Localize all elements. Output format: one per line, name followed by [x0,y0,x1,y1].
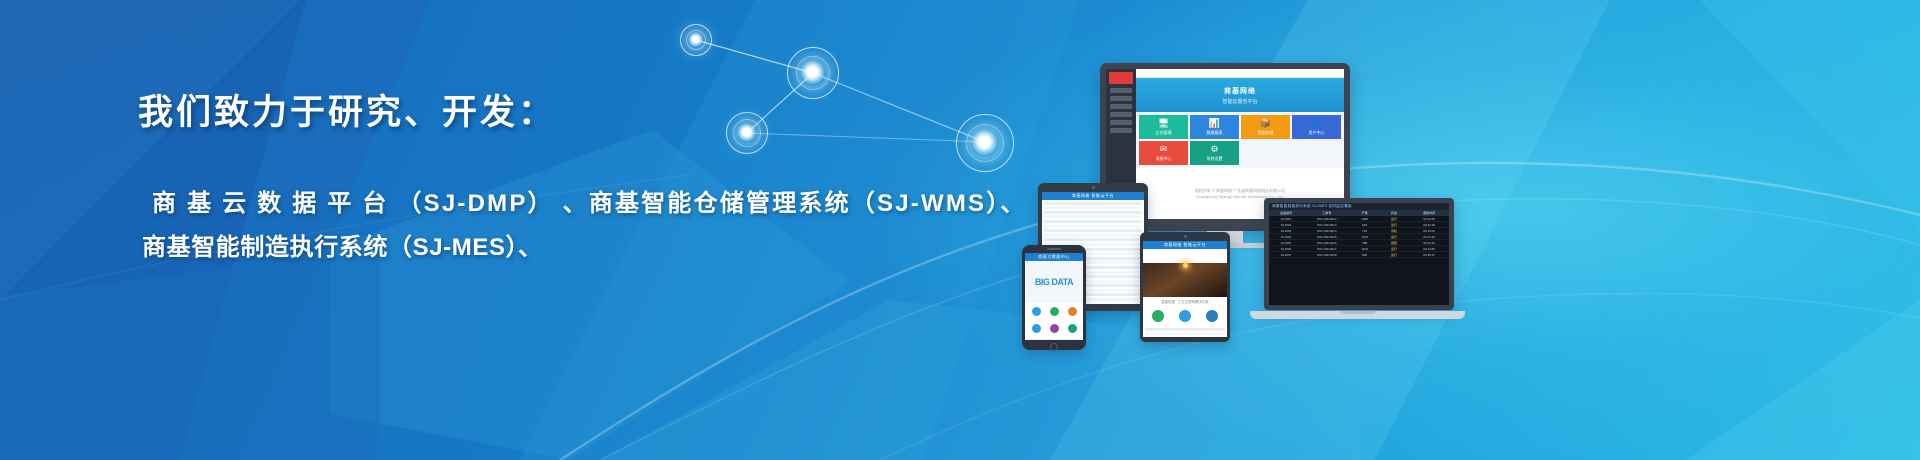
app-main: 商基网络 智能云服务平台 🖥 企业管理 📊 数据报表 [1136,69,1344,219]
tile-label: 数据报表 [1207,130,1223,136]
home-button-icon[interactable] [1050,343,1058,351]
device-mockups: 商基网络 智能云服务平台 🖥 企业管理 📊 数据报表 [1000,0,1920,460]
action-icon-1[interactable] [1152,310,1164,322]
app-hero-title: 商基网络 [1224,86,1256,96]
sidebar-item-5[interactable] [1110,128,1132,133]
action-icon-3[interactable] [1068,307,1077,316]
app-tile-grid: 🖥 企业管理 📊 数据报表 📦 智能仓储 [1136,112,1344,168]
node-core [971,129,999,157]
node-core [800,60,826,86]
list-item [1044,202,1142,205]
sidebar-item-0[interactable] [1110,88,1132,93]
speaker-icon [1047,248,1061,250]
list-item [1044,220,1142,223]
cell: M-1007 [1269,252,1303,258]
status-badge: 运行 [1380,252,1408,258]
action-icon-1[interactable] [1032,307,1041,316]
app-hero-banner: 商基网络 智能云服务平台 [1136,78,1344,112]
box-icon: 📦 [1260,119,1271,128]
hero-banner: 我们致力于研究、开发： 商 基 云 数 据 平 台 （SJ-DMP） 、商基智能… [0,0,1920,460]
tablet-b-caption: 智能制造 · 工业互联网解决方案 [1143,297,1227,306]
phone-mockup: 商基大数据中心 BIG DATA [1022,245,1086,350]
node-core [737,123,757,143]
app-tile-1[interactable]: 📊 数据报表 [1190,115,1239,139]
network-node-3 [726,112,768,154]
action-icon-4[interactable] [1032,324,1041,333]
cell: 820 [1350,252,1378,258]
sidebar-item-3[interactable] [1110,112,1132,117]
chart-icon: 📊 [1209,119,1220,128]
list-item [1044,238,1142,241]
app-tile-0[interactable]: 🖥 企业管理 [1139,115,1188,139]
mes-dashboard: 商基智能制造执行系统 SJ-MES 实时监控看板 设备编号 工单号 产量 状态 … [1269,203,1449,305]
cell: 09:15:27 [1409,252,1449,258]
tablet-b-titlebar: 商基网络 智能云平台 [1143,241,1227,249]
app-tile-3[interactable]: 👤 用户中心 [1292,115,1341,139]
sidebar-item-1[interactable] [1110,96,1132,101]
tablet-b-action-row [1143,306,1227,326]
tile-label: 企业管理 [1156,130,1172,136]
list-item [1044,234,1142,237]
tile-label: 用户中心 [1309,130,1325,136]
network-node-1 [680,24,712,56]
monitor-icon: 🖥 [1158,119,1169,128]
list-item [1145,332,1225,335]
action-icon-2[interactable] [1050,307,1059,316]
tablet-a-titlebar: 商基网络 智能云平台 [1042,192,1144,200]
network-node-2 [787,47,839,99]
action-icon-3[interactable] [1206,310,1218,322]
app-logo [1109,72,1133,84]
list-item [1044,215,1142,218]
app-topbar[interactable] [1136,69,1344,78]
list-item [1027,339,1081,340]
app-tile-2[interactable]: 📦 智能仓储 [1241,115,1290,139]
laptop-mockup: 商基智能制造执行系统 SJ-MES 实时监控看板 设备编号 工单号 产量 状态 … [1250,198,1465,333]
tile-label: 系统设置 [1207,156,1223,162]
list-item [1044,206,1142,209]
app-hero-subtitle: 智能云服务平台 [1222,98,1257,105]
cell: WO-20210318 [1304,252,1349,258]
tablet-b-screen: 商基网络 智能云平台 智能制造 · 工业互联网解决方案 [1143,241,1227,337]
camera-icon [1092,186,1095,189]
phone-screen: 商基大数据中心 BIG DATA [1025,253,1083,340]
camera-icon [1184,235,1187,238]
table-row[interactable]: M-1007 WO-20210318 820 运行 09:15:27 [1269,252,1449,258]
app-tile-5[interactable]: ⚙ 系统设置 [1190,141,1239,165]
user-icon: 👤 [1311,119,1322,128]
list-item [1044,211,1142,214]
mes-titlebar: 商基智能制造执行系统 SJ-MES 实时监控看板 [1269,203,1449,210]
laptop-screen: 商基智能制造执行系统 SJ-MES 实时监控看板 设备编号 工单号 产量 状态 … [1264,198,1454,310]
product-line-2: 商基智能制造执行系统（SJ-MES）、 [138,226,968,270]
phone-action-row-2 [1025,320,1083,337]
tile-label: 消息中心 [1156,156,1172,162]
phone-titlebar: 商基大数据中心 [1025,253,1083,261]
hero-photo [1143,263,1227,297]
list-item [1044,229,1142,232]
laptop-base [1250,311,1465,319]
action-icon-2[interactable] [1179,310,1191,322]
phone-action-row [1025,303,1083,320]
action-icon-5[interactable] [1050,324,1059,333]
bigdata-logo: BIG DATA [1025,261,1083,303]
tablet-b-mockup: 商基网络 智能云平台 智能制造 · 工业互联网解决方案 [1140,232,1230,342]
spark-glow-icon [1183,263,1188,268]
app-tile-4[interactable]: ✉ 消息中心 [1139,141,1188,165]
sidebar-item-2[interactable] [1110,104,1132,109]
tile-label: 智能仓储 [1258,130,1274,136]
mail-icon: ✉ [1160,145,1168,154]
list-item [1145,328,1225,331]
sidebar-item-4[interactable] [1110,120,1132,125]
gear-icon: ⚙ [1210,145,1218,154]
action-icon-6[interactable] [1068,324,1077,333]
list-item [1044,225,1142,228]
node-core [688,32,704,48]
